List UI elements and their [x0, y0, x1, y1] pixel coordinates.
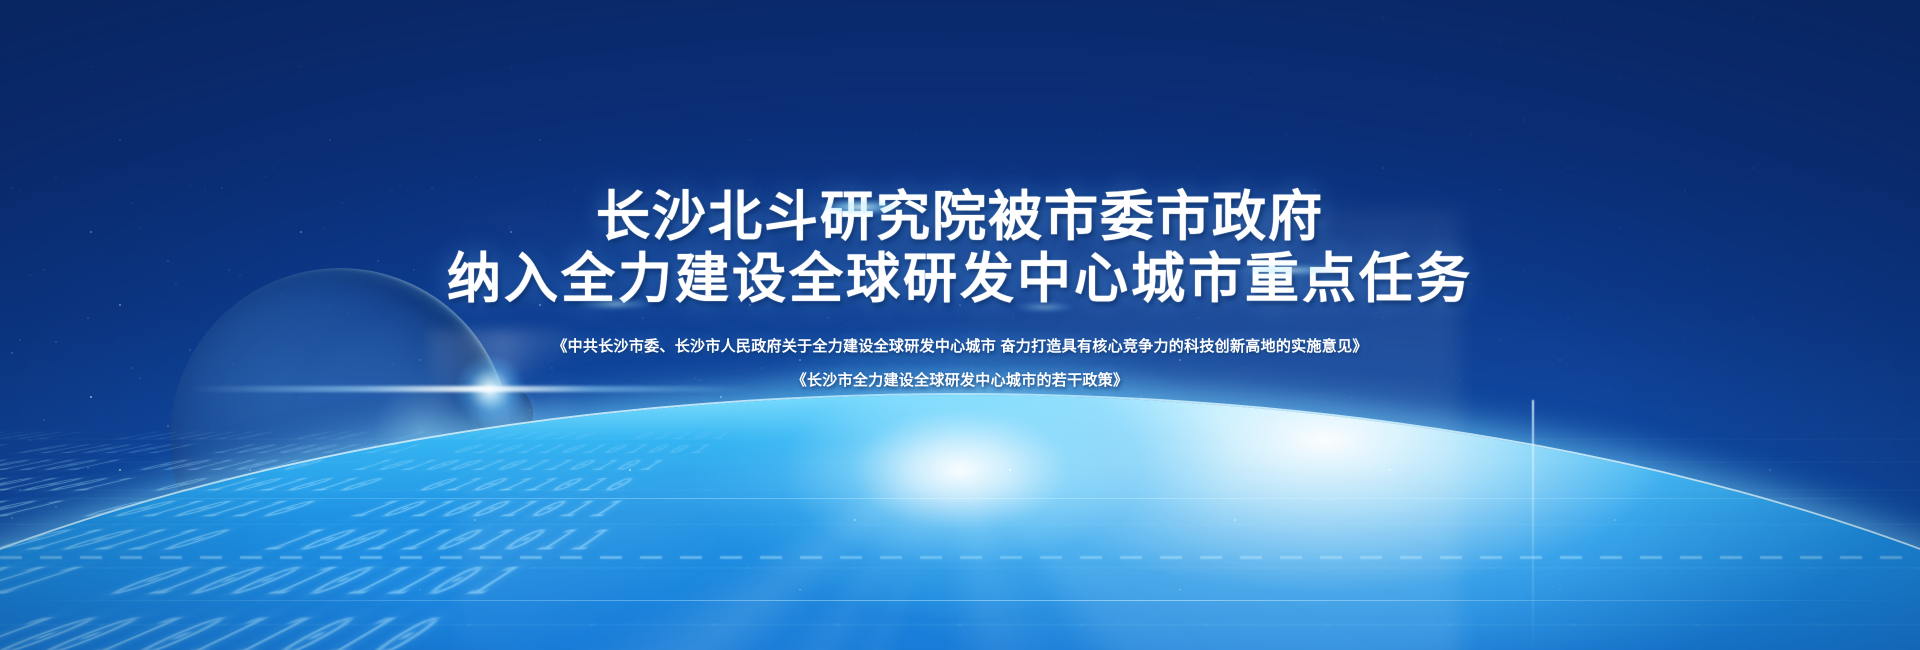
subtitle-document-1: 《中共长沙市委、长沙市人民政府关于全力建设全球研发中心城市 奋力打造具有核心竞争… [552, 332, 1367, 362]
banner-stage: 01001 1010101 0110101001 1010110 010 110… [0, 0, 1920, 650]
headline-line-1: 长沙北斗研究院被市委市政府 [447, 186, 1473, 248]
subtitle-block: 《中共长沙市委、长沙市人民政府关于全力建设全球研发中心城市 奋力打造具有核心竞争… [552, 332, 1367, 396]
headline-line-2: 纳入全力建设全球研发中心城市重点任务 [447, 248, 1473, 310]
page-title: 长沙北斗研究院被市委市政府 纳入全力建设全球研发中心城市重点任务 [447, 186, 1473, 310]
banner-content: 长沙北斗研究院被市委市政府 纳入全力建设全球研发中心城市重点任务 《中共长沙市委… [0, 0, 1920, 650]
subtitle-document-2: 《长沙市全力建设全球研发中心城市的若干政策》 [552, 366, 1367, 396]
